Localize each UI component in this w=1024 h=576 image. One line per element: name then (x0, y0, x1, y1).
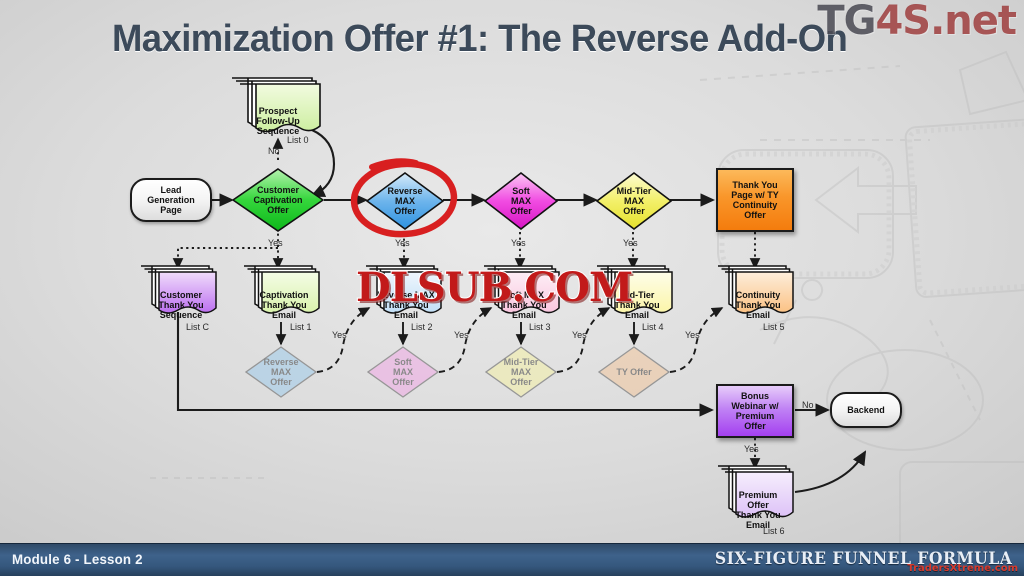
watermark-tg4s-red: 4S.net (875, 0, 1016, 44)
edge-label-yes-midtier: Yes (623, 238, 638, 248)
diamond-shape (484, 172, 558, 230)
node-label: Thank You Page w/ TY Continuity Offer (718, 180, 792, 220)
list-label-6: List 6 (763, 526, 785, 536)
document-stack-shape (245, 270, 323, 322)
node-bonus-webinar[interactable]: Bonus Webinar w/ Premium Offer (716, 384, 794, 438)
edge-label-no-backend: No (802, 400, 814, 410)
list-label-3: List 3 (529, 322, 551, 332)
list-label-c: List C (186, 322, 209, 332)
document-stack-shape (142, 270, 220, 322)
node-soft-max-offer-faded[interactable]: Soft MAX Offer (367, 346, 439, 398)
slide-canvas: Maximization Offer #1: The Reverse Add-O… (0, 0, 1024, 576)
node-mid-tier-max-offer-faded[interactable]: Mid-Tier MAX Offer (485, 346, 557, 398)
list-label-4: List 4 (642, 322, 664, 332)
diamond-shape (245, 346, 317, 398)
node-label: Backend (832, 405, 900, 415)
node-label: Bonus Webinar w/ Premium Offer (718, 391, 792, 431)
node-mid-tier-max-offer[interactable]: Mid-Tier MAX Offer (596, 172, 672, 230)
diamond-shape (598, 346, 670, 398)
edge-label-yes-midtier-faded: Yes (572, 330, 587, 340)
edge-label-yes-reverse-faded: Yes (332, 330, 347, 340)
watermark-tg4s-dark: TG (817, 0, 875, 44)
node-captivation-thank-you-email[interactable]: Captivation Thank You Email (245, 270, 323, 322)
node-customer-thank-you-sequence[interactable]: Customer Thank You Sequence (142, 270, 220, 322)
list-label-2: List 2 (411, 322, 433, 332)
list-label-1: List 1 (290, 322, 312, 332)
edge-label-yes-premium: Yes (744, 444, 759, 454)
node-continuity-thank-you-email[interactable]: Continuity Thank You Email (719, 270, 797, 322)
document-stack-shape (719, 470, 797, 526)
node-soft-max-offer[interactable]: Soft MAX Offer (484, 172, 558, 230)
node-ty-offer-faded[interactable]: TY Offer (598, 346, 670, 398)
watermark-tradersxtreme: TradersXtreme.com (907, 563, 1018, 574)
edge-label-yes-soft: Yes (511, 238, 526, 248)
watermark-tg4s: TG4S.net (817, 0, 1016, 44)
diamond-shape (596, 172, 672, 230)
list-label-5: List 5 (763, 322, 785, 332)
node-backend[interactable]: Backend (830, 392, 902, 428)
node-reverse-max-offer-faded[interactable]: Reverse MAX Offer (245, 346, 317, 398)
slide-footer: Module 6 - Lesson 2 SIX-FIGURE FUNNEL FO… (0, 543, 1024, 576)
node-premium-offer-thank-you-email[interactable]: Premium Offer Thank You Email (719, 470, 797, 526)
footer-module-lesson: Module 6 - Lesson 2 (12, 551, 143, 567)
document-stack-shape (719, 270, 797, 322)
edge-label-yes-ty-faded: Yes (685, 330, 700, 340)
diamond-shape (485, 346, 557, 398)
watermark-dlsub: DLSUB.COM (356, 264, 632, 311)
edge-label-yes-soft-faded: Yes (454, 330, 469, 340)
diamond-shape (367, 346, 439, 398)
node-thank-you-page[interactable]: Thank You Page w/ TY Continuity Offer (716, 168, 794, 232)
